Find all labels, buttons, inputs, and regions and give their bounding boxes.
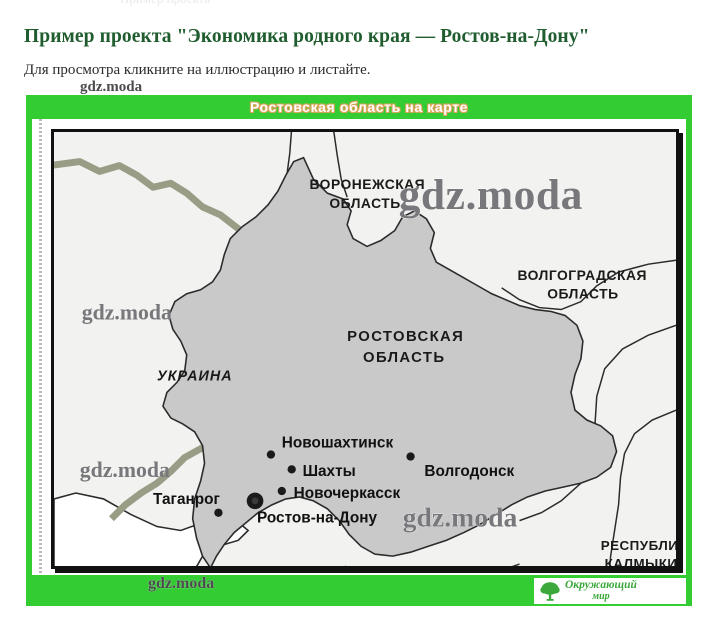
city-label-rostov-na-donu: Ростов-на-Дону <box>257 510 377 527</box>
watermark-map-big: gdz.moda <box>399 171 583 219</box>
watermark-map-left-upper: gdz.moda <box>82 300 172 324</box>
city-dot-taganrog <box>214 509 222 517</box>
city-dot-novoshakhtinsk <box>267 450 275 458</box>
page-title: Пример проекта "Экономика родного края —… <box>24 26 590 48</box>
page-instruction-text: Для просмотра кликните на иллюстрацию и … <box>24 62 371 79</box>
illustration-banner: Ростовская область на карте <box>26 95 692 119</box>
region-label-volgograd-line1: ВОЛГОГРАДСКАЯ <box>518 267 647 283</box>
tree-icon <box>538 579 562 603</box>
region-label-voronezh-line2: ОБЛАСТЬ <box>329 195 400 211</box>
city-label-taganrog: Таганрог <box>153 491 220 508</box>
cut-off-header-text: Пример проекта <box>0 0 718 14</box>
illustration-page-sheet: ВОРОНЕЖСКАЯ ОБЛАСТЬ ВОЛГОГРАДСКАЯ ОБЛАСТ… <box>32 119 686 575</box>
region-label-kalmykia-line1: РЕСПУБЛИКА <box>601 538 676 553</box>
watermark-under-subtitle: gdz.moda <box>80 79 142 96</box>
watermark-below-map: gdz.moda <box>148 575 214 593</box>
page-binding-dots-icon <box>39 119 42 575</box>
brand-logo: Окружающий мир <box>534 578 686 604</box>
brand-logo-text: Окружающий мир <box>565 580 637 602</box>
city-dot-shakhty <box>288 465 296 473</box>
city-label-novocherkassk: Новочеркасск <box>294 485 401 502</box>
region-label-kalmykia-line2: КАЛМЫКИЯ <box>605 556 676 566</box>
country-label-ukraine: УКРАИНА <box>157 369 233 385</box>
brand-logo-line2: мир <box>565 592 637 602</box>
region-label-rostov-line1: РОСТОВСКАЯ <box>347 329 464 345</box>
city-dot-novocherkassk <box>278 487 286 495</box>
watermark-map-center: gdz.moda <box>403 502 518 533</box>
region-label-volgograd-line2: ОБЛАСТЬ <box>547 286 618 302</box>
city-dot-volgodonsk <box>406 452 414 460</box>
illustration-banner-label: Ростовская область на карте <box>250 99 468 115</box>
city-label-volgodonsk: Волгодонск <box>424 463 514 480</box>
illustration-viewer[interactable]: Ростовская область на карте <box>26 95 692 606</box>
city-dot-rostov-na-donu-inner <box>252 498 259 505</box>
region-label-rostov-line2: ОБЛАСТЬ <box>363 350 445 366</box>
cut-off-header-label: Пример проекта <box>120 0 210 7</box>
map-image[interactable]: ВОРОНЕЖСКАЯ ОБЛАСТЬ ВОЛГОГРАДСКАЯ ОБЛАСТ… <box>51 129 679 569</box>
map-svg: ВОРОНЕЖСКАЯ ОБЛАСТЬ ВОЛГОГРАДСКАЯ ОБЛАСТ… <box>54 132 676 566</box>
watermark-map-left-lower: gdz.moda <box>80 458 170 482</box>
city-label-novoshakhtinsk: Новошахтинск <box>282 435 394 452</box>
city-label-shakhty: Шахты <box>303 463 356 480</box>
